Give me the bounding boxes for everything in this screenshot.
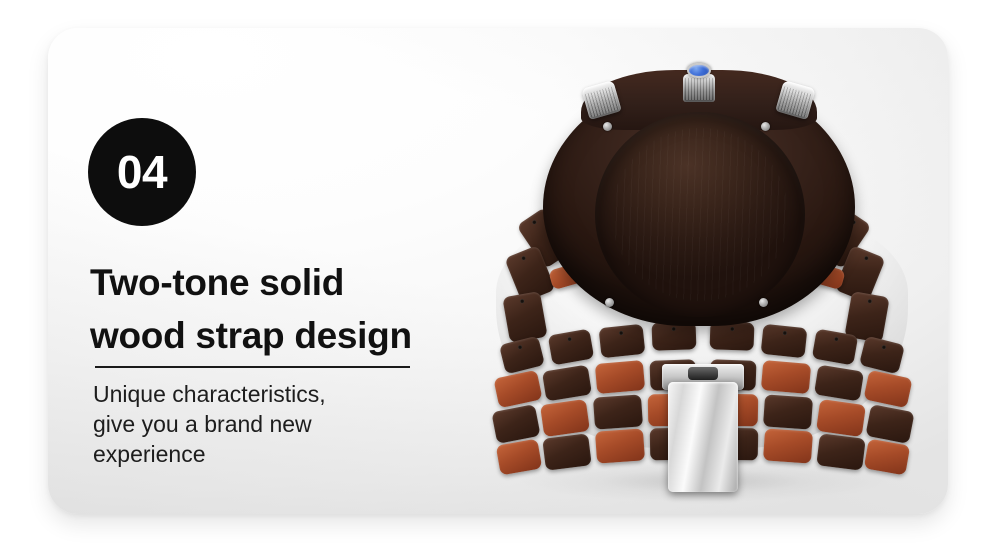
link-pin xyxy=(864,256,869,261)
product-feature-card-page: 04 Two-tone solid wood strap design Uniq… xyxy=(0,0,1000,544)
feature-headline: Two-tone solid wood strap design xyxy=(90,256,530,363)
bracelet-link xyxy=(865,404,914,444)
feature-card: 04 Two-tone solid wood strap design Uniq… xyxy=(48,28,948,514)
caseback-screw xyxy=(603,122,612,131)
headline-divider xyxy=(95,366,410,368)
bracelet-link xyxy=(593,394,643,429)
clasp-cover-plate xyxy=(668,382,738,492)
link-pin xyxy=(783,331,787,335)
bracelet-link xyxy=(595,428,645,463)
link-pin xyxy=(567,337,572,342)
caseback-plate xyxy=(595,112,805,317)
bracelet-link xyxy=(540,399,590,437)
link-pin xyxy=(532,219,538,225)
bracelet-link xyxy=(816,399,866,437)
watch-case xyxy=(543,60,855,330)
link-pin xyxy=(867,299,872,304)
bracelet-link xyxy=(595,360,645,394)
watch-clasp xyxy=(662,364,744,492)
bracelet-link xyxy=(491,404,540,444)
crown-gemstone xyxy=(687,63,711,78)
caseback-screw xyxy=(761,122,770,131)
link-pin xyxy=(619,331,623,335)
clasp-release-nub xyxy=(688,367,718,380)
bracelet-link xyxy=(863,370,912,408)
bracelet-link xyxy=(763,394,813,429)
bracelet-link xyxy=(761,360,811,394)
caseback-screw xyxy=(605,298,614,307)
feature-number-badge: 04 xyxy=(88,118,196,226)
link-pin xyxy=(834,337,839,342)
crown-body xyxy=(683,74,715,102)
bracelet-link xyxy=(493,370,542,408)
caseback-screw xyxy=(759,298,768,307)
link-pin xyxy=(882,345,887,350)
bracelet-link xyxy=(496,439,543,476)
bracelet-link xyxy=(763,428,813,463)
watch-crown xyxy=(680,60,718,102)
bracelet-link xyxy=(864,439,911,476)
feature-body-text: Unique characteristics, give you a brand… xyxy=(93,380,453,470)
